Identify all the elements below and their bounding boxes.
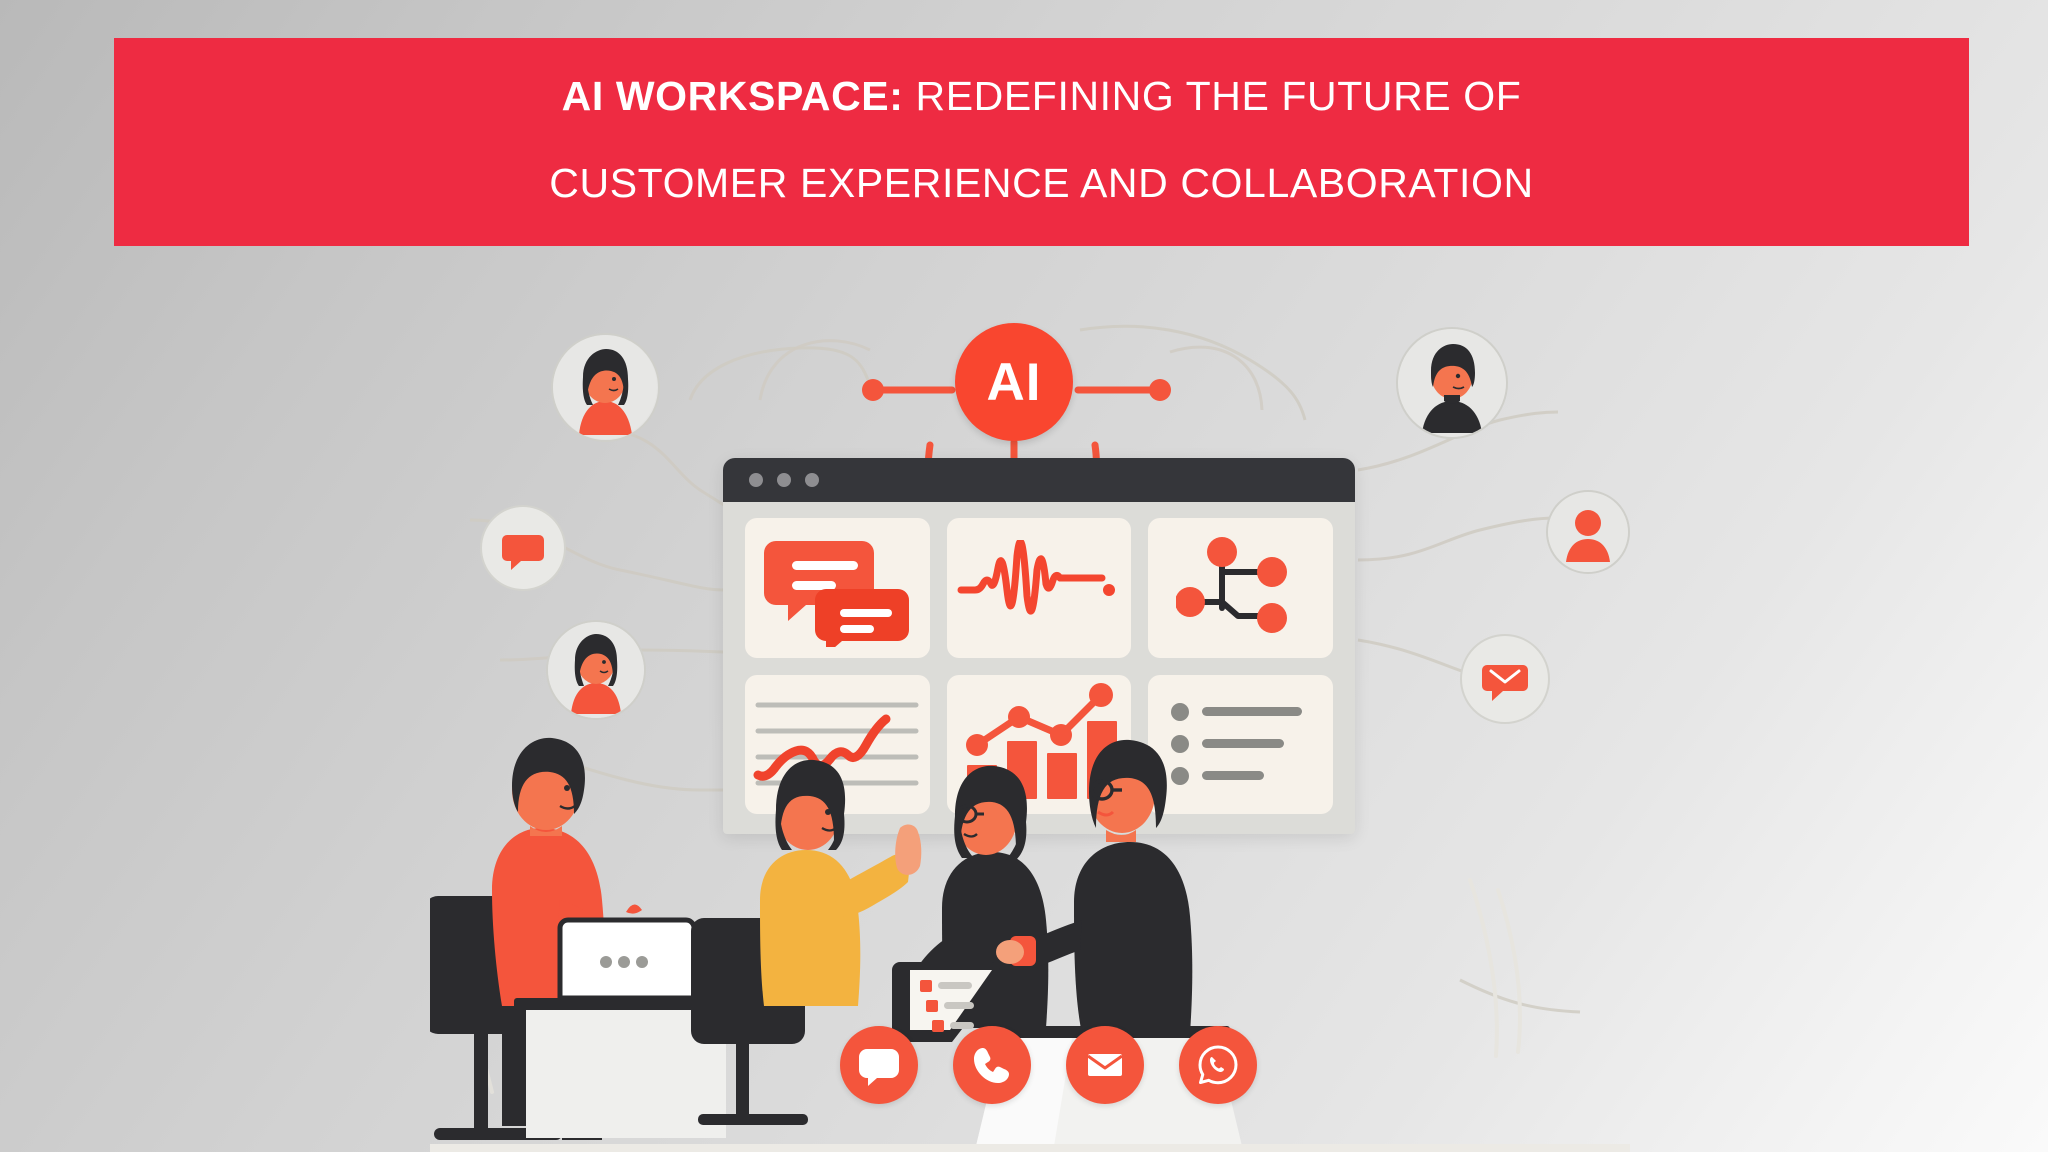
mail-bubble-right — [1459, 633, 1551, 725]
email-icon[interactable] — [1066, 1026, 1144, 1104]
social-icon-row — [840, 1026, 1257, 1104]
floor-line — [430, 1144, 1630, 1152]
ai-node-label: AI — [987, 356, 1042, 409]
avatar-art — [1398, 329, 1506, 437]
phone-icon — [971, 1044, 1013, 1086]
node-left — [1176, 587, 1205, 617]
envelope-icon — [1459, 633, 1551, 725]
whatsapp-icon — [1195, 1042, 1241, 1088]
page-title-strong: AI WORKSPACE: — [562, 73, 904, 119]
node-right-upper — [1257, 557, 1287, 587]
avatar-art — [548, 622, 644, 718]
waveform-tile[interactable] — [947, 518, 1132, 658]
ai-node-badge[interactable]: AI — [955, 323, 1073, 441]
page-title-line-2: CUSTOMER EXPERIENCE AND COLLABORATION — [549, 163, 1533, 204]
link-node-right — [1149, 379, 1171, 401]
chat-icon[interactable] — [840, 1026, 918, 1104]
laptop-flag — [626, 904, 642, 913]
network-nodes-icon — [1176, 530, 1306, 646]
chair-stem — [474, 1030, 488, 1140]
envelope-icon — [1083, 1043, 1127, 1087]
user-icon — [1548, 492, 1628, 572]
torso — [1074, 842, 1192, 1034]
laptop-left — [560, 904, 694, 998]
title-banner: AI WORKSPACE: REDEFINING THE FUTURE OF C… — [114, 38, 1969, 246]
avatar-woman-mid-left — [546, 620, 646, 720]
chat-bubbles-icon — [762, 529, 912, 647]
speech-bubble-icon — [480, 505, 566, 591]
avatar-man-top-right — [1396, 327, 1508, 439]
chat-bubble-icon — [857, 1043, 901, 1087]
network-tile[interactable] — [1148, 518, 1333, 658]
window-dot-close[interactable] — [749, 473, 763, 487]
window-dot-maximize[interactable] — [805, 473, 819, 487]
person-tablet — [892, 766, 1048, 1042]
link-node-left — [862, 379, 884, 401]
illustration-canvas: AI WORKSPACE: REDEFINING THE FUTURE OF C… — [0, 0, 2048, 1152]
avatar-generic-right — [1546, 490, 1630, 574]
torso — [760, 850, 860, 1006]
waveform-icon — [955, 540, 1123, 636]
phone-icon[interactable] — [953, 1026, 1031, 1104]
chat-bubble-left — [480, 505, 566, 591]
whatsapp-icon[interactable] — [1179, 1026, 1257, 1104]
page-title-line-1: AI WORKSPACE: REDEFINING THE FUTURE OF — [562, 76, 1522, 117]
browser-titlebar — [723, 458, 1355, 502]
page-title-rest: REDEFINING THE FUTURE OF — [904, 73, 1522, 119]
node-right-lower — [1257, 603, 1287, 633]
node-top — [1207, 537, 1237, 567]
avatar-woman-top-left — [551, 333, 660, 442]
window-dot-minimize[interactable] — [777, 473, 791, 487]
avatar-art — [553, 335, 658, 440]
chat-tile[interactable] — [745, 518, 930, 658]
eye — [564, 785, 570, 791]
hand — [895, 825, 921, 875]
hand — [996, 940, 1024, 964]
